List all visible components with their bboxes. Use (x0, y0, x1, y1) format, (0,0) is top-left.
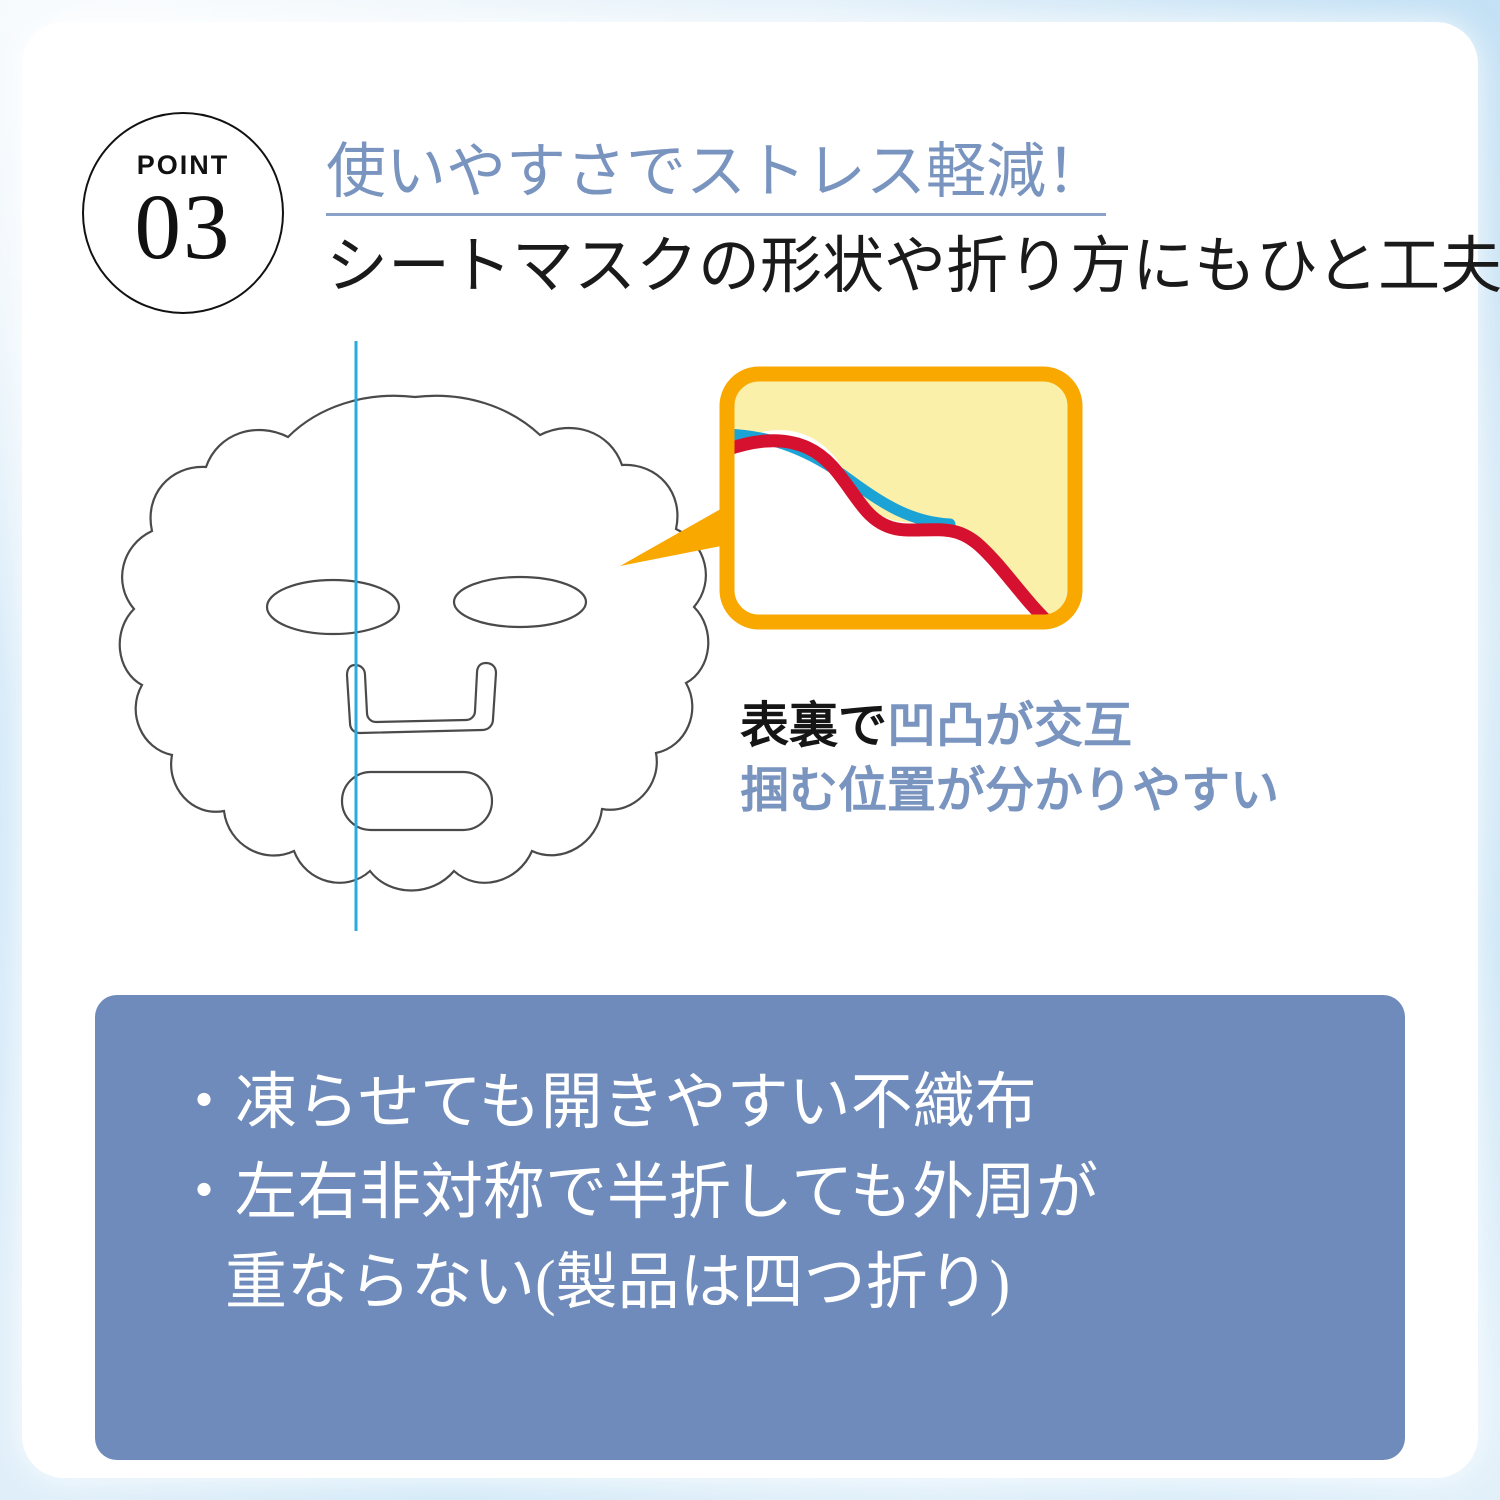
mask-mouth-cutout (342, 772, 492, 830)
bullet-item-2-cont: 重ならない(製品は四つ折り) (173, 1239, 1335, 1329)
mask-right-eye-cutout (454, 577, 586, 627)
point-badge-label: POINT (137, 152, 230, 179)
callout-caption: 表裏で凹凸が交互 掴む位置が分かりやすい (740, 694, 1440, 824)
bottom-info-panel: ・凍らせても開きやすい不織布 ・左右非対称で半折しても外周が 重ならない(製品は… (95, 995, 1405, 1460)
headline-line-1: 使いやすさでストレス軽減！ (326, 136, 1106, 216)
mask-left-eye-cutout (267, 580, 399, 634)
caption-line-1-blue: 凹凸が交互 (887, 699, 1132, 753)
point-badge-number: 03 (135, 181, 232, 274)
poster-root: POINT 03 使いやすさでストレス軽減！ シートマスクの形状や折り方にもひと… (0, 0, 1500, 1500)
bullet-item-2: ・左右非対称で半折しても外周が (173, 1149, 1335, 1239)
headline-line-2: シートマスクの形状や折り方にもひと工夫！ (326, 230, 1436, 306)
caption-line-1: 表裏で凹凸が交互 (740, 694, 1440, 759)
edge-zoom-callout (612, 360, 1087, 640)
headline-block: 使いやすさでストレス軽減！ シートマスクの形状や折り方にもひと工夫！ (326, 136, 1436, 306)
bullet-item-1: ・凍らせても開きやすい不織布 (173, 1059, 1335, 1149)
caption-line-1-black: 表裏で (740, 699, 887, 753)
caption-line-2: 掴む位置が分かりやすい (740, 759, 1440, 824)
point-badge: POINT 03 (82, 112, 284, 314)
